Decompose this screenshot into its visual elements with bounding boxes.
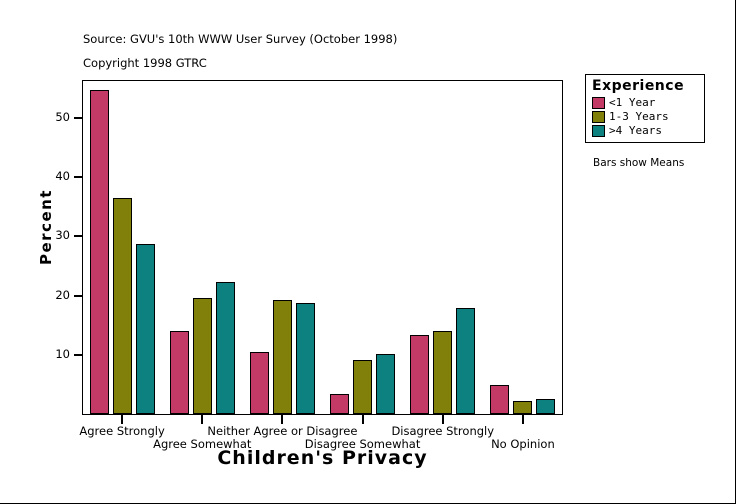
legend-label: >4 Years bbox=[609, 124, 662, 137]
y-tick-mark bbox=[74, 117, 82, 119]
source-caption: Source: GVU's 10th WWW User Survey (Octo… bbox=[83, 32, 397, 46]
x-tick-mark bbox=[442, 415, 444, 424]
plot-inner bbox=[83, 81, 562, 414]
x-tick-mark bbox=[362, 415, 364, 424]
y-tick-label: 50 bbox=[42, 110, 70, 124]
bar bbox=[273, 300, 292, 414]
legend-title: Experience bbox=[592, 78, 704, 94]
x-axis-title: Children's Privacy bbox=[82, 447, 563, 469]
legend-item: 1-3 Years bbox=[592, 110, 704, 123]
bar bbox=[250, 352, 269, 414]
y-tick-mark bbox=[74, 295, 82, 297]
y-tick-mark bbox=[74, 235, 82, 237]
bar bbox=[536, 399, 555, 414]
bar bbox=[170, 331, 189, 414]
legend-label: 1-3 Years bbox=[609, 110, 669, 123]
y-tick-mark bbox=[74, 354, 82, 356]
legend-item: <1 Year bbox=[592, 96, 704, 109]
legend-swatch bbox=[592, 97, 605, 109]
y-tick-label: 10 bbox=[42, 347, 70, 361]
bar bbox=[330, 394, 349, 414]
legend: Experience <1 Year1-3 Years>4 Years bbox=[585, 74, 705, 143]
bar bbox=[410, 335, 429, 414]
bar bbox=[193, 298, 212, 414]
y-axis-title: Percent bbox=[37, 167, 55, 287]
legend-entries: <1 Year1-3 Years>4 Years bbox=[586, 96, 704, 137]
bar bbox=[353, 360, 372, 414]
y-tick-label: 20 bbox=[42, 288, 70, 302]
x-tick-label: Disagree Strongly bbox=[343, 424, 543, 438]
copyright-caption: Copyright 1998 GTRC bbox=[83, 56, 207, 70]
bar bbox=[136, 244, 155, 414]
bar bbox=[490, 385, 509, 414]
y-tick-label: 40 bbox=[42, 169, 70, 183]
bar bbox=[90, 90, 109, 414]
x-tick-mark bbox=[201, 415, 203, 424]
legend-label: <1 Year bbox=[609, 96, 655, 109]
chart-page: Source: GVU's 10th WWW User Survey (Octo… bbox=[0, 0, 736, 504]
bar bbox=[296, 303, 315, 414]
bar bbox=[113, 198, 132, 414]
bar bbox=[456, 308, 475, 414]
x-tick-mark bbox=[522, 415, 524, 424]
bar bbox=[513, 401, 532, 414]
legend-swatch bbox=[592, 125, 605, 137]
bar bbox=[376, 354, 395, 414]
y-tick-mark bbox=[74, 176, 82, 178]
legend-swatch bbox=[592, 111, 605, 123]
bars-show-means-note: Bars show Means bbox=[593, 157, 684, 169]
x-tick-mark bbox=[281, 415, 283, 424]
legend-item: >4 Years bbox=[592, 124, 704, 137]
x-tick-mark bbox=[121, 415, 123, 424]
bar bbox=[216, 282, 235, 414]
bar bbox=[433, 331, 452, 414]
y-tick-label: 30 bbox=[42, 228, 70, 242]
